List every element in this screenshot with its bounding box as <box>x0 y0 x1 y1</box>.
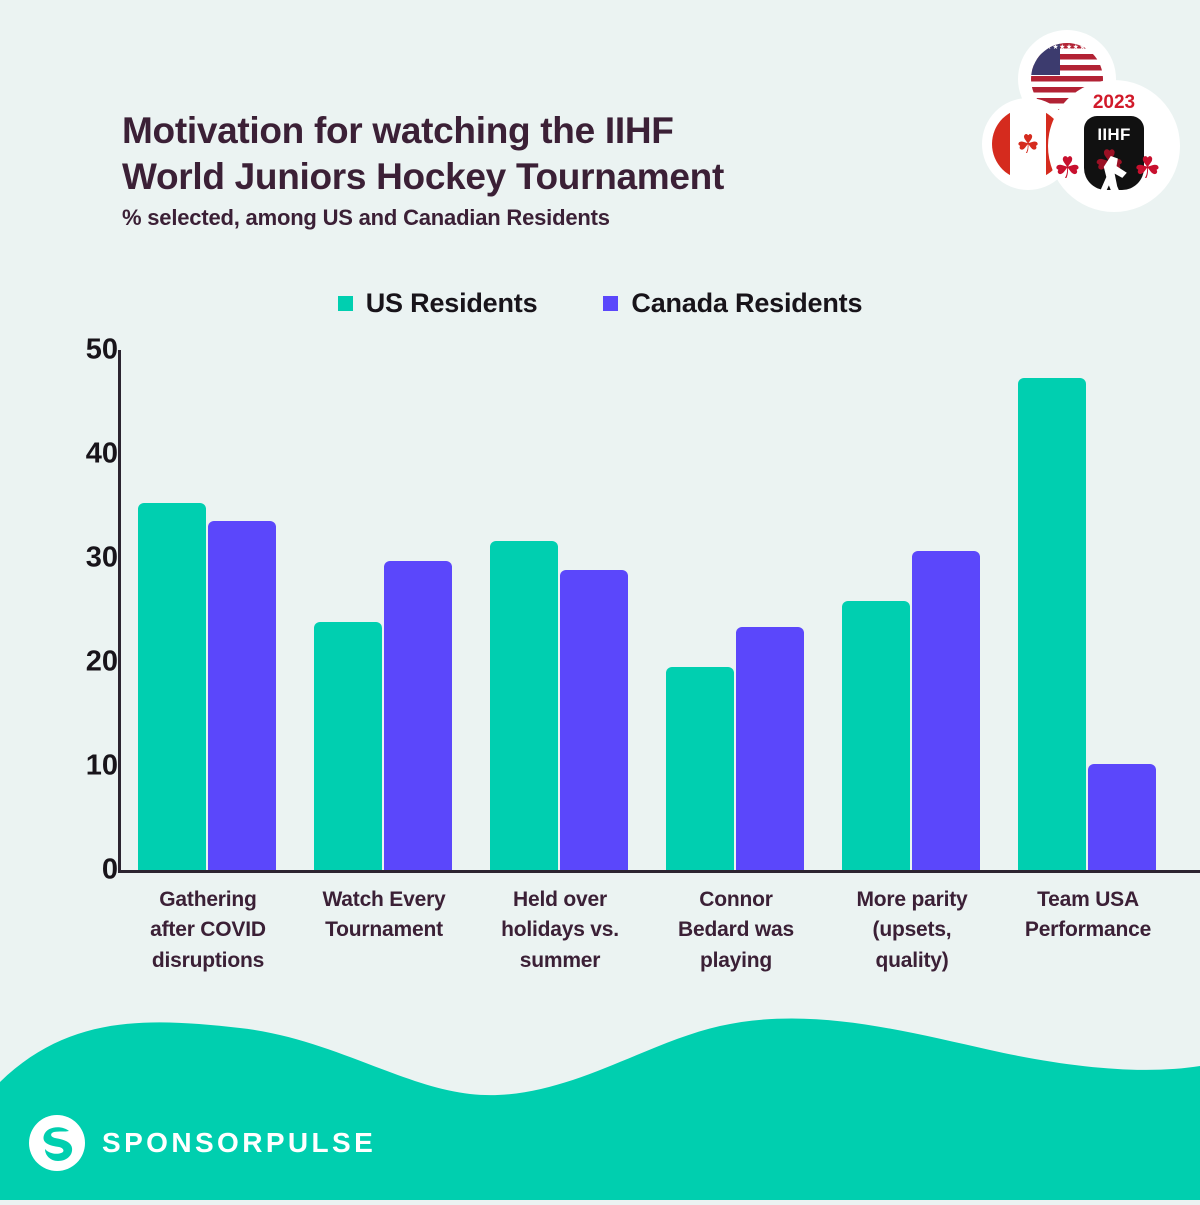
x-label-line: Held over <box>513 888 607 911</box>
bar-canada-0[interactable] <box>208 521 276 870</box>
x-label-line: Connor <box>699 888 772 911</box>
sponsorpulse-logo: SPONSORPULSE <box>28 1114 376 1172</box>
bar-us-2[interactable] <box>490 541 558 870</box>
chart-plot-area: 01020304050 Gatheringafter COVIDdisrupti… <box>0 0 1200 1000</box>
bar-canada-4[interactable] <box>912 551 980 870</box>
bar-us-1[interactable] <box>314 622 382 870</box>
x-label-line: disruptions <box>152 949 264 972</box>
bar-canada-2[interactable] <box>560 570 628 870</box>
x-axis-label-4: More parity(upsets,quality) <box>828 885 996 976</box>
x-label-line: Bedard was <box>678 918 794 941</box>
x-label-line: Tournament <box>325 918 443 941</box>
x-label-line: playing <box>700 949 772 972</box>
x-label-line: holidays vs. <box>501 918 619 941</box>
x-label-line: Watch Every <box>322 888 445 911</box>
bar-canada-5[interactable] <box>1088 764 1156 870</box>
bar-canada-3[interactable] <box>736 627 804 870</box>
bar-us-4[interactable] <box>842 601 910 870</box>
x-axis-label-0: Gatheringafter COVIDdisruptions <box>124 885 292 976</box>
sponsorpulse-mark-icon <box>28 1114 86 1172</box>
x-label-line: Gathering <box>159 888 256 911</box>
bar-us-3[interactable] <box>666 667 734 870</box>
bar-us-0[interactable] <box>138 503 206 870</box>
bar-canada-1[interactable] <box>384 561 452 870</box>
x-axis-labels: Gatheringafter COVIDdisruptionsWatch Eve… <box>118 885 1200 1005</box>
x-axis-label-3: ConnorBedard wasplaying <box>652 885 820 976</box>
bars-layer <box>0 0 1200 1000</box>
x-label-line: More parity <box>857 888 968 911</box>
x-label-line: (upsets, <box>873 918 952 941</box>
x-label-line: Performance <box>1025 918 1151 941</box>
x-axis-label-5: Team USAPerformance <box>1004 885 1172 946</box>
x-axis-label-1: Watch EveryTournament <box>300 885 468 946</box>
x-label-line: after COVID <box>150 918 266 941</box>
x-axis-label-2: Held overholidays vs.summer <box>476 885 644 976</box>
sponsorpulse-wordmark: SPONSORPULSE <box>102 1127 376 1159</box>
x-label-line: summer <box>520 949 601 972</box>
bar-us-5[interactable] <box>1018 378 1086 870</box>
x-label-line: Team USA <box>1037 888 1139 911</box>
s-circle-icon <box>28 1114 86 1172</box>
footer-wave: SPONSORPULSE <box>0 1000 1200 1200</box>
x-label-line: quality) <box>875 949 948 972</box>
